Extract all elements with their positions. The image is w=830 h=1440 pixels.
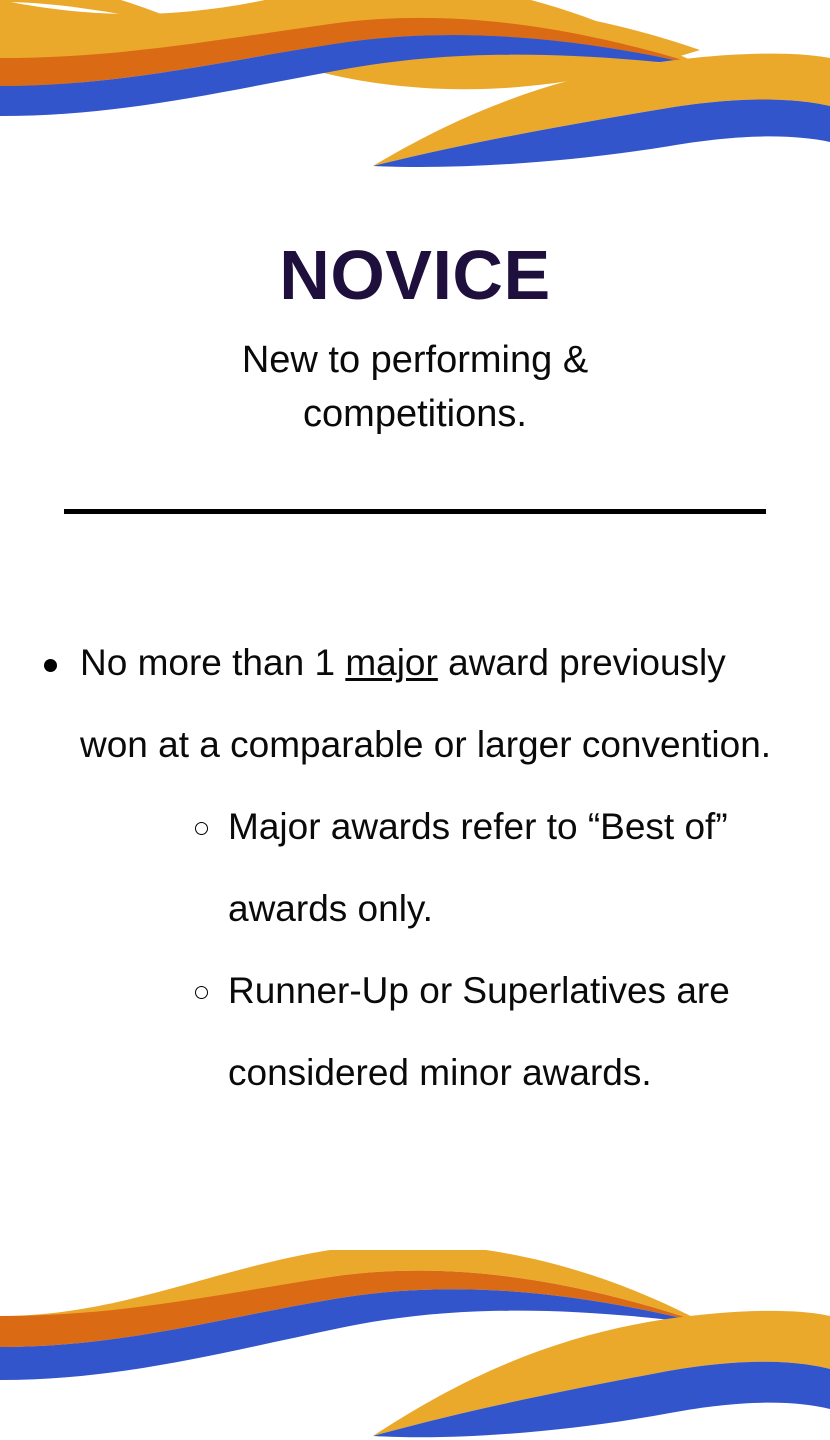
top-wave-ribbon-gold xyxy=(0,0,706,86)
header-block: NOVICE New to performing & competitions. xyxy=(0,240,830,442)
top-wave-ribbon-orange xyxy=(0,18,706,86)
bottom-wave-ribbon-orange xyxy=(0,1271,706,1347)
bottom-wave-graphic xyxy=(0,1250,830,1440)
subtitle-line-2: competitions. xyxy=(150,388,680,442)
top-wave-ribbon-blue xyxy=(0,35,706,116)
rules-content: No more than 1 major award previously wo… xyxy=(0,622,830,1114)
section-divider xyxy=(64,509,766,514)
list-item-text-before: No more than 1 xyxy=(80,642,345,683)
bottom-wave-ribbon-gold xyxy=(0,1250,706,1347)
top-wave-graphic xyxy=(0,0,830,170)
bullet-circle-icon xyxy=(195,986,208,999)
bottom-wave-secondary-gold xyxy=(373,1311,830,1436)
sub-list-item-text: Major awards refer to “Best of” awards o… xyxy=(228,806,728,929)
top-wave-gold-band-main xyxy=(0,0,700,89)
list-item: No more than 1 major award previously wo… xyxy=(0,622,830,1114)
sub-list-item-text: Runner-Up or Superlatives are considered… xyxy=(228,970,730,1093)
bullet-circle-icon xyxy=(195,822,208,835)
rules-list: No more than 1 major award previously wo… xyxy=(0,622,830,1114)
page-subtitle: New to performing & competitions. xyxy=(0,334,830,442)
list-item-emphasis: major xyxy=(345,642,438,683)
top-wave-secondary-gold xyxy=(373,54,830,166)
page-title: NOVICE xyxy=(0,240,830,310)
slide-canvas: NOVICE New to performing & competitions.… xyxy=(0,0,830,1440)
top-wave-secondary-blue xyxy=(373,100,830,168)
rules-sublist: Major awards refer to “Best of” awards o… xyxy=(80,786,790,1114)
subtitle-line-1: New to performing & xyxy=(150,334,680,388)
bullet-disc-icon xyxy=(44,659,57,672)
bottom-wave-secondary-blue xyxy=(373,1362,830,1438)
list-item: Major awards refer to “Best of” awards o… xyxy=(80,786,790,950)
bottom-wave-ribbon-blue xyxy=(0,1289,706,1380)
top-wave-gold-band xyxy=(0,0,700,95)
top-wave-main-group xyxy=(0,0,706,108)
list-item: Runner-Up or Superlatives are considered… xyxy=(80,950,790,1114)
